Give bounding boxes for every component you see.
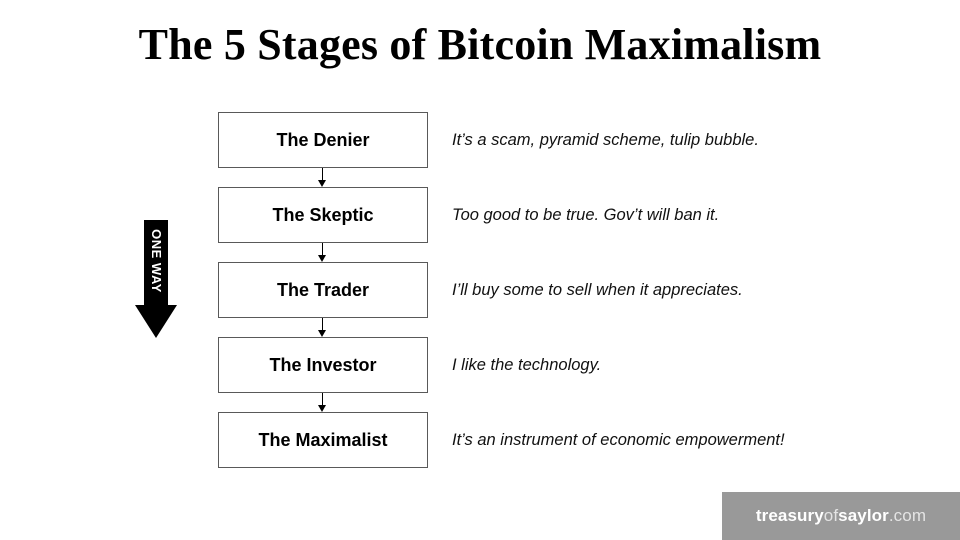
- flow-connector-arrow-icon: [218, 168, 428, 187]
- stage-label: The Trader: [277, 280, 369, 301]
- one-way-sign: ONE WAY: [135, 220, 177, 338]
- watermark-part-of: of: [824, 506, 838, 525]
- spacer: [452, 393, 922, 412]
- stage-row: The Investor: [218, 337, 428, 393]
- flow-connector-arrow-icon: [218, 318, 428, 337]
- stage-row: The Skeptic: [218, 187, 428, 243]
- stage-box-denier[interactable]: The Denier: [218, 112, 428, 168]
- connector-arrowhead-icon: [318, 255, 326, 262]
- stage-box-skeptic[interactable]: The Skeptic: [218, 187, 428, 243]
- stage-label: The Investor: [269, 355, 376, 376]
- stage-box-investor[interactable]: The Investor: [218, 337, 428, 393]
- spacer: [452, 243, 922, 262]
- connector-arrowhead-icon: [318, 180, 326, 187]
- watermark-part-treasury: treasury: [756, 506, 824, 525]
- stage-quote-denier: It’s a scam, pyramid scheme, tulip bubbl…: [452, 112, 922, 168]
- stage-label: The Skeptic: [272, 205, 373, 226]
- one-way-sign-label: ONE WAY: [148, 227, 164, 295]
- spacer: [452, 168, 922, 187]
- flow-connector-arrow-icon: [218, 243, 428, 262]
- stage-row: The Maximalist: [218, 412, 428, 468]
- stage-row: The Trader: [218, 262, 428, 318]
- watermark-text: treasuryofsaylor.com: [756, 506, 926, 526]
- stage-quote-investor: I like the technology.: [452, 337, 922, 393]
- stage-row: The Denier: [218, 112, 428, 168]
- stage-quote-skeptic: Too good to be true. Gov’t will ban it.: [452, 187, 922, 243]
- watermark-badge: treasuryofsaylor.com: [722, 492, 960, 540]
- stage-descriptions: It’s a scam, pyramid scheme, tulip bubbl…: [452, 112, 922, 468]
- stage-box-maximalist[interactable]: The Maximalist: [218, 412, 428, 468]
- stage-label: The Denier: [276, 130, 369, 151]
- watermark-part-saylor: saylor: [838, 506, 889, 525]
- stage-box-trader[interactable]: The Trader: [218, 262, 428, 318]
- stage-quote-maximalist: It’s an instrument of economic empowerme…: [452, 412, 922, 468]
- connector-arrowhead-icon: [318, 405, 326, 412]
- watermark-part-tld: .com: [889, 506, 926, 525]
- stage-label: The Maximalist: [258, 430, 387, 451]
- flow-connector-arrow-icon: [218, 393, 428, 412]
- stage-quote-trader: I’ll buy some to sell when it appreciate…: [452, 262, 922, 318]
- one-way-arrow-head-icon: [135, 305, 177, 338]
- spacer: [452, 318, 922, 337]
- connector-arrowhead-icon: [318, 330, 326, 337]
- stage-flow-chart: The Denier The Skeptic The Trader The In…: [218, 112, 428, 468]
- page-title: The 5 Stages of Bitcoin Maximalism: [0, 18, 960, 72]
